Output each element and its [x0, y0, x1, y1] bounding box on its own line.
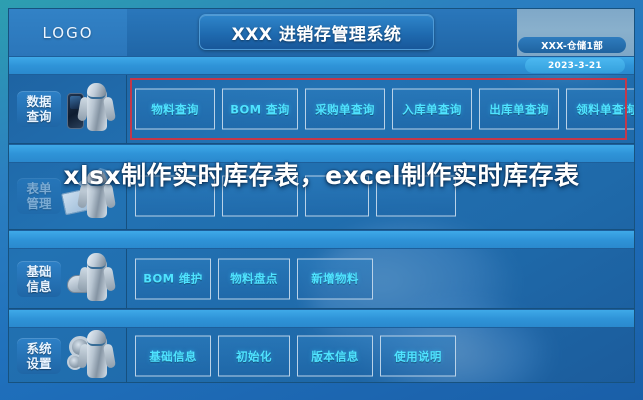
robot-document-icon — [67, 170, 119, 222]
section-divider-bar-3 — [9, 230, 635, 249]
button-picking-order-query[interactable]: 领料单查询 — [566, 89, 635, 130]
category-label-basic-info[interactable]: 基础 信息 — [17, 261, 61, 297]
category-label-line2: 设置 — [17, 356, 61, 371]
row-divider-line — [126, 328, 127, 383]
department-badge-label: XXX-仓储1部 — [541, 38, 603, 52]
date-badge-label: 2023-3-21 — [548, 61, 602, 71]
app-title-pill: XXX 进销存管理系统 — [199, 14, 434, 50]
button-user-manual[interactable]: 使用说明 — [380, 336, 456, 377]
button-material-query[interactable]: 物料查询 — [135, 89, 215, 130]
row-divider-line — [126, 75, 127, 143]
section-row-data-query: 数据 查询 物料查询 BOM 查询 采购单查询 入库单查询 出库单查询 领料单查… — [9, 75, 635, 144]
button-material-stocktaking[interactable]: 物料盘点 — [218, 258, 290, 299]
category-label-line2: 查询 — [17, 109, 61, 124]
header-title-area: XXX 进销存管理系统 — [127, 9, 517, 56]
application-window: LOGO XXX 进销存管理系统 XXX-仓储1部 2023-3-21 数据 查… — [8, 8, 635, 383]
category-label-form-management[interactable]: 表单 管理 — [17, 178, 61, 214]
button-strip-data-query: 物料查询 BOM 查询 采购单查询 入库单查询 出库单查询 领料单查询 — [135, 89, 635, 130]
button-purchase-order-query[interactable]: 采购单查询 — [305, 89, 385, 130]
button-inbound-order-query[interactable]: 入库单查询 — [392, 89, 472, 130]
section-divider-bar-2 — [9, 144, 635, 163]
category-label-line1: 基础 — [17, 264, 61, 279]
logo-panel[interactable]: LOGO — [9, 9, 127, 56]
row-divider-line — [126, 163, 127, 229]
category-label-line1: 数据 — [17, 94, 61, 109]
button-strip-basic-info: BOM 维护 物料盘点 新增物料 — [135, 258, 373, 299]
button-add-material[interactable]: 新增物料 — [297, 258, 373, 299]
button-bom-maintenance[interactable]: BOM 维护 — [135, 258, 211, 299]
section-row-system-settings: 系统 设置 基础信息 初始化 版本信息 使用说明 — [9, 328, 635, 383]
category-label-data-query[interactable]: 数据 查询 — [17, 91, 61, 127]
category-label-line2: 信息 — [17, 279, 61, 294]
robot-gear-icon — [67, 330, 119, 382]
button-bom-query[interactable]: BOM 查询 — [222, 89, 298, 130]
section-row-basic-info: 基础 信息 BOM 维护 物料盘点 新增物料 — [9, 249, 635, 309]
department-badge: XXX-仓储1部 — [518, 37, 626, 53]
category-label-line2: 管理 — [17, 196, 61, 211]
page-title: XXX 进销存管理系统 — [232, 20, 402, 45]
category-label-line1: 表单 — [17, 181, 61, 196]
button-version-info[interactable]: 版本信息 — [297, 336, 373, 377]
button-strip-system-settings: 基础信息 初始化 版本信息 使用说明 — [135, 336, 456, 377]
button-form-2[interactable] — [222, 176, 298, 217]
robot-phone-icon — [67, 83, 119, 135]
button-basic-info[interactable]: 基础信息 — [135, 336, 211, 377]
category-label-system-settings[interactable]: 系统 设置 — [17, 338, 61, 374]
row-divider-line — [126, 249, 127, 308]
section-divider-bar-4 — [9, 309, 635, 328]
button-form-3[interactable] — [305, 176, 369, 217]
button-strip-form-management — [135, 176, 456, 217]
date-badge: 2023-3-21 — [525, 58, 625, 73]
category-label-line1: 系统 — [17, 341, 61, 356]
button-form-4[interactable] — [376, 176, 456, 217]
button-form-1[interactable] — [135, 176, 215, 217]
robot-mouse-icon — [67, 253, 119, 305]
logo-text: LOGO — [42, 24, 93, 42]
button-outbound-order-query[interactable]: 出库单查询 — [479, 89, 559, 130]
section-row-form-management: 表单 管理 — [9, 163, 635, 230]
button-initialize[interactable]: 初始化 — [218, 336, 290, 377]
